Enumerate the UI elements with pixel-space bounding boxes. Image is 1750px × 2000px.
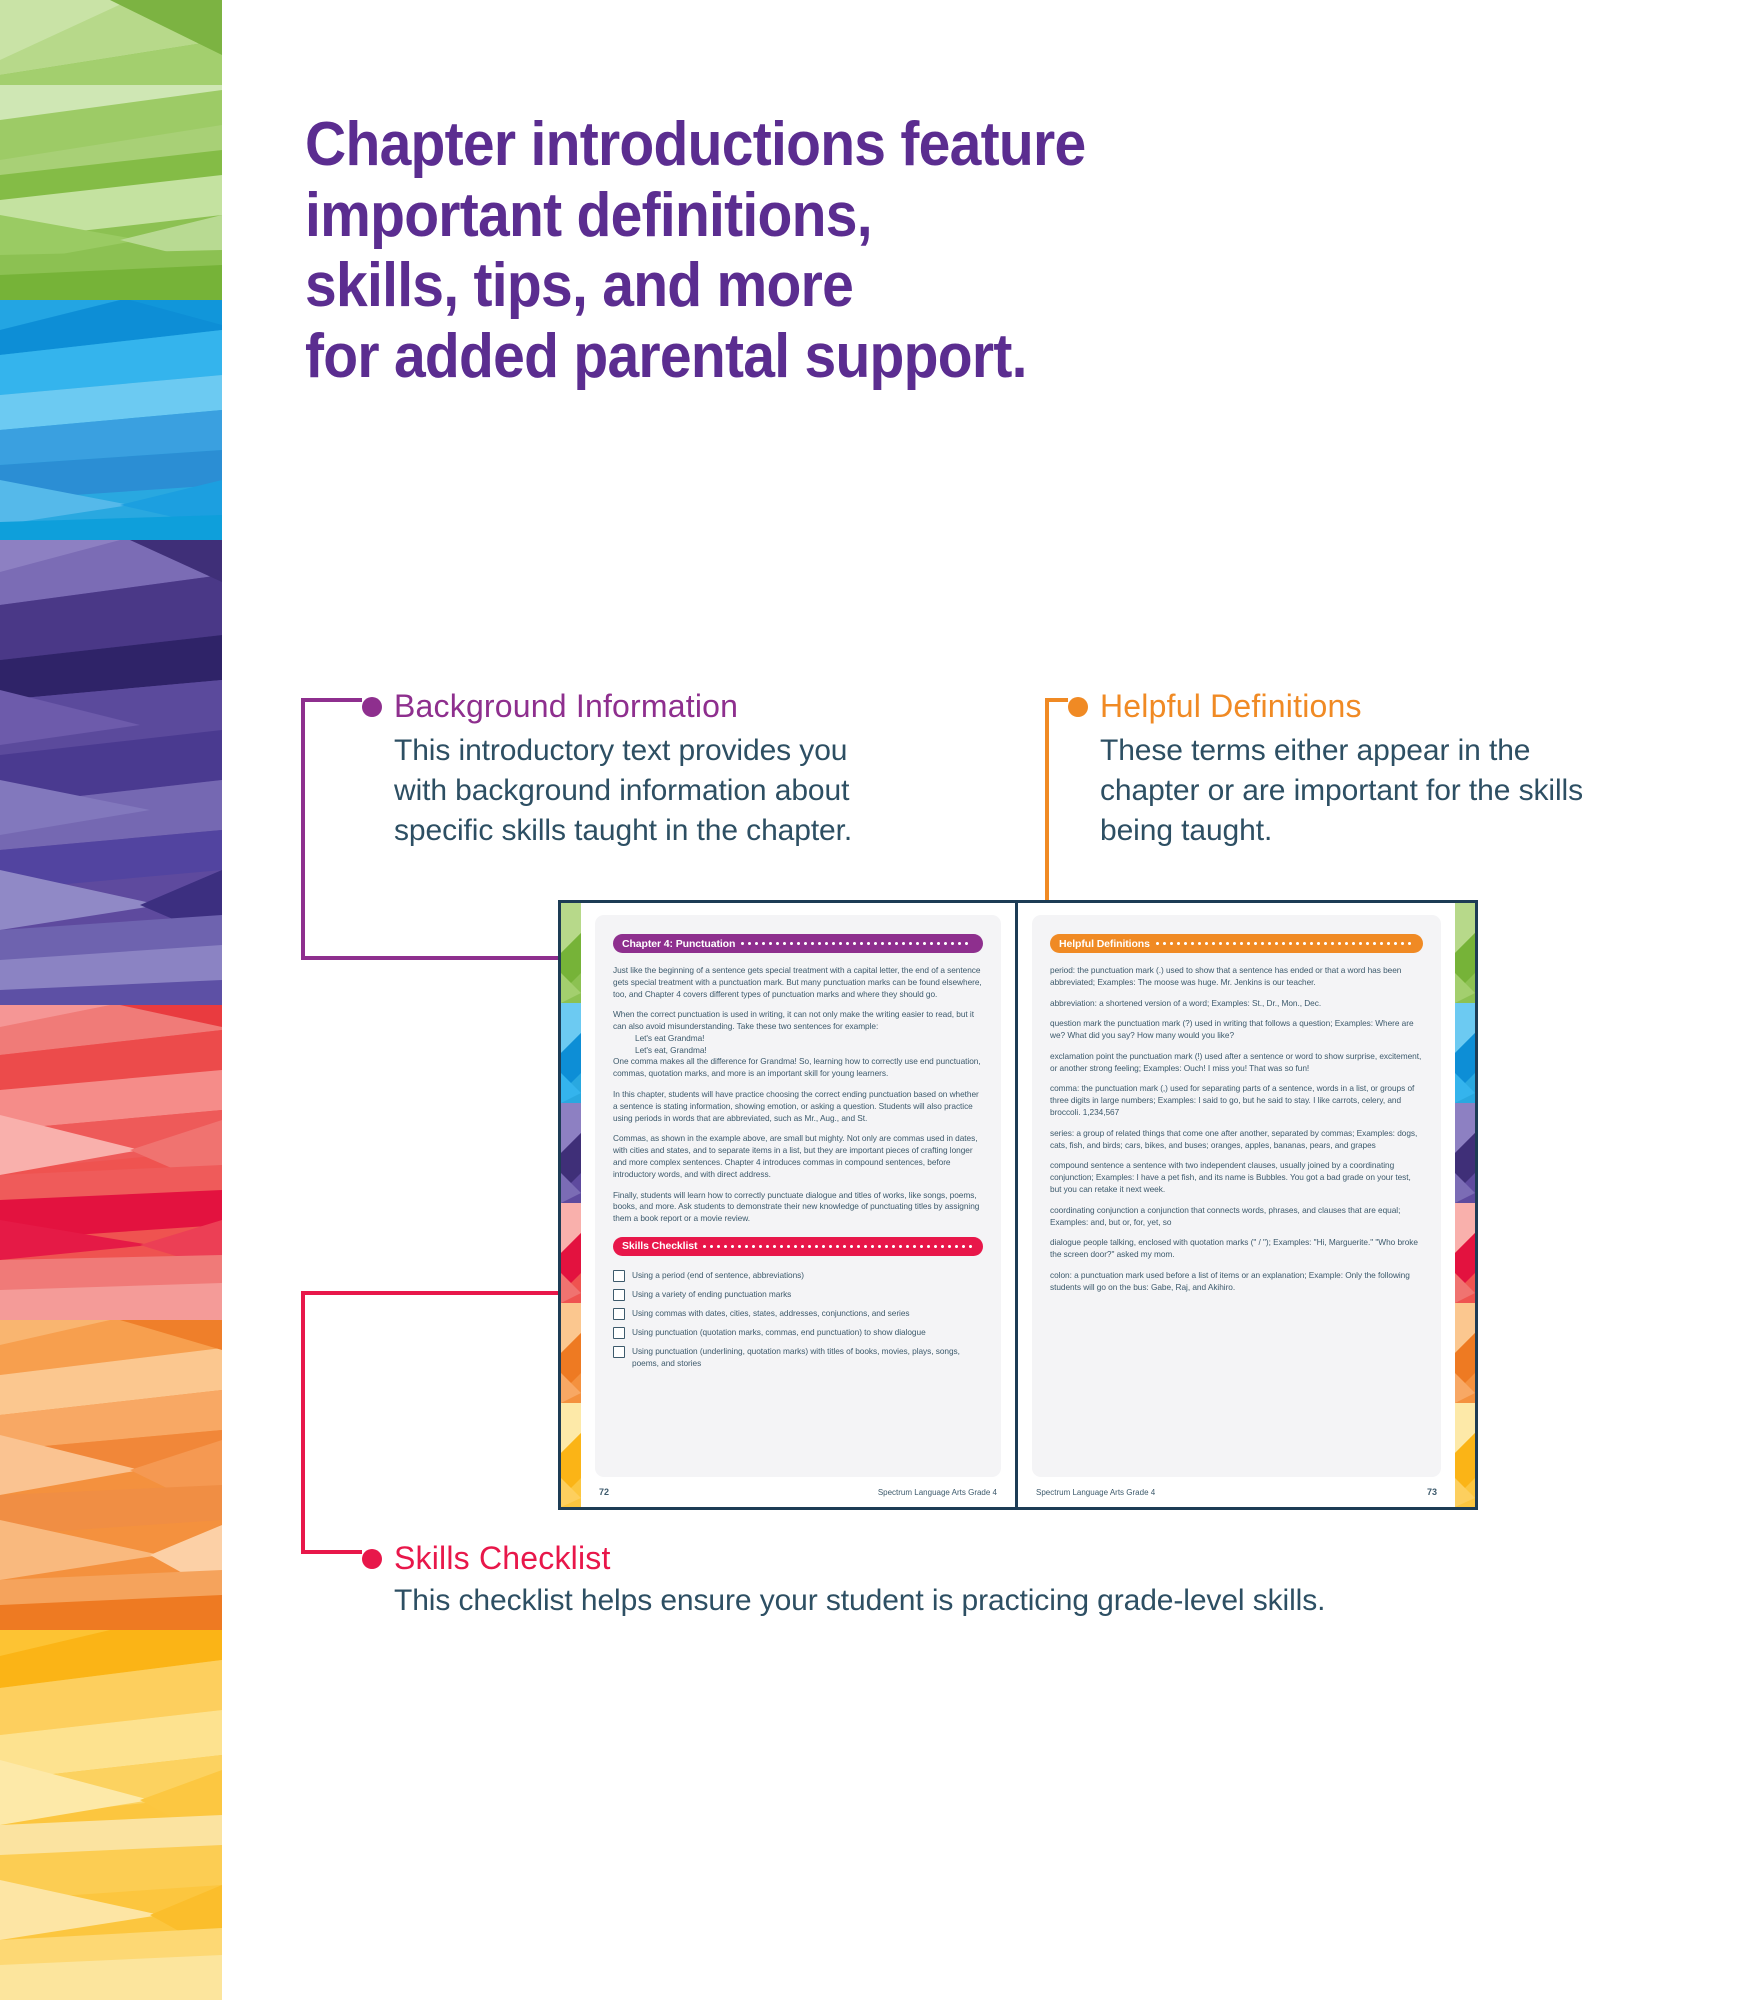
headline-line-3: skills, tips, and more (305, 251, 1335, 322)
footer-title: Spectrum Language Arts Grade 4 (878, 1488, 997, 1497)
color-band-green (0, 0, 222, 300)
checklist-item[interactable]: Using punctuation (underlining, quotatio… (613, 1346, 983, 1370)
intro-paragraph: Finally, students will learn how to corr… (613, 1190, 983, 1225)
checklist-item-label: Using commas with dates, cities, states,… (632, 1308, 910, 1320)
callout-background-information: Background Information This introductory… (362, 688, 962, 851)
section-bar-chapter: Chapter 4: Punctuation (613, 934, 983, 953)
checklist-item-label: Using punctuation (quotation marks, comm… (632, 1327, 926, 1339)
checkbox-icon[interactable] (613, 1289, 625, 1301)
intro-paragraph: In this chapter, students will have prac… (613, 1089, 983, 1124)
section-bar-label: Skills Checklist (622, 1240, 697, 1252)
checklist-item-label: Using a period (end of sentence, abbrevi… (632, 1270, 804, 1282)
definition-entry: comma: the punctuation mark (,) used for… (1050, 1083, 1423, 1118)
chapter-intro-card: Chapter 4: Punctuation Just like the beg… (595, 915, 1001, 1477)
headline-line-2: important definitions, (305, 181, 1335, 252)
book-page-right-content: Helpful Definitions period: the punctuat… (1018, 903, 1455, 1507)
bullet-dot-icon (1068, 697, 1088, 717)
intro-paragraph: Just like the beginning of a sentence ge… (613, 965, 983, 1000)
checklist-item[interactable]: Using a variety of ending punctuation ma… (613, 1289, 983, 1301)
color-band-orange (0, 1320, 222, 1630)
checkbox-icon[interactable] (613, 1308, 625, 1320)
callout-body-line: This introductory text provides you (394, 731, 962, 771)
definition-entry: colon: a punctuation mark used before a … (1050, 1270, 1423, 1294)
checklist-item[interactable]: Using commas with dates, cities, states,… (613, 1308, 983, 1320)
section-bar-label: Helpful Definitions (1059, 938, 1150, 950)
definition-entry: coordinating conjunction a conjunction t… (1050, 1205, 1423, 1229)
intro-paragraph: Commas, as shown in the example above, a… (613, 1133, 983, 1180)
definition-entry: abbreviation: a shortened version of a w… (1050, 998, 1423, 1010)
section-bar-label: Chapter 4: Punctuation (622, 938, 735, 950)
callout-body-line: This checklist helps ensure your student… (394, 1581, 1662, 1621)
decorative-color-strip (0, 0, 222, 2000)
callout-header: Helpful Definitions (1068, 688, 1728, 725)
page-headline: Chapter introductions feature important … (305, 110, 1335, 393)
callout-title: Skills Checklist (394, 1540, 611, 1577)
callout-body-line: specific skills taught in the chapter. (394, 811, 962, 851)
checkbox-icon[interactable] (613, 1327, 625, 1339)
page-footer-right: Spectrum Language Arts Grade 4 73 (1032, 1477, 1441, 1507)
definition-entry: series: a group of related things that c… (1050, 1128, 1423, 1152)
definition-entry: exclamation point the punctuation mark (… (1050, 1051, 1423, 1075)
headline-line-4: for added parental support. (305, 322, 1335, 393)
dotted-rule (739, 934, 974, 953)
callout-title: Helpful Definitions (1100, 688, 1362, 725)
callout-body: This introductory text provides you with… (394, 731, 962, 851)
intro-paragraph: One comma makes all the difference for G… (613, 1056, 983, 1080)
callout-body-line: These terms either appear in the (1100, 731, 1728, 771)
color-band-yellow (0, 1630, 222, 2000)
page-number: 73 (1427, 1487, 1437, 1497)
callout-body-line: being taught. (1100, 811, 1728, 851)
section-bar-definitions: Helpful Definitions (1050, 934, 1423, 953)
checklist-item[interactable]: Using a period (end of sentence, abbrevi… (613, 1270, 983, 1282)
example-sentence: Let's eat, Grandma! (613, 1045, 983, 1057)
callout-title: Background Information (394, 688, 738, 725)
checklist-item-label: Using punctuation (underlining, quotatio… (632, 1346, 983, 1370)
checklist-item[interactable]: Using punctuation (quotation marks, comm… (613, 1327, 983, 1339)
checkbox-icon[interactable] (613, 1270, 625, 1282)
definition-entry: question mark the punctuation mark (?) u… (1050, 1018, 1423, 1042)
definition-entry: compound sentence a sentence with two in… (1050, 1160, 1423, 1195)
footer-title: Spectrum Language Arts Grade 4 (1036, 1488, 1155, 1497)
callout-body: This checklist helps ensure your student… (394, 1581, 1662, 1621)
callout-body: These terms either appear in the chapter… (1100, 731, 1728, 851)
intro-paragraph: When the correct punctuation is used in … (613, 1009, 983, 1033)
page-edge-rainbow-right (1455, 903, 1475, 1507)
color-band-red (0, 1005, 222, 1320)
callout-header: Skills Checklist (362, 1540, 1662, 1577)
definition-entry: dialogue people talking, enclosed with q… (1050, 1237, 1423, 1261)
headline-line-1: Chapter introductions feature (305, 110, 1335, 181)
book-page-left-content: Chapter 4: Punctuation Just like the beg… (581, 903, 1015, 1507)
book-spread-image: Chapter 4: Punctuation Just like the beg… (558, 900, 1478, 1510)
callout-helpful-definitions: Helpful Definitions These terms either a… (1068, 688, 1728, 851)
section-bar-skills-checklist: Skills Checklist (613, 1237, 983, 1256)
poster-page: Chapter introductions feature important … (0, 0, 1750, 2000)
callout-body-line: chapter or are important for the skills (1100, 771, 1728, 811)
callout-header: Background Information (362, 688, 962, 725)
page-number: 72 (599, 1487, 609, 1497)
helpful-definitions-card: Helpful Definitions period: the punctuat… (1032, 915, 1441, 1477)
callout-body-line: with background information about (394, 771, 962, 811)
color-band-purple (0, 540, 222, 1005)
callout-skills-checklist: Skills Checklist This checklist helps en… (362, 1540, 1662, 1621)
example-sentence: Let's eat Grandma! (613, 1033, 983, 1045)
color-band-blue (0, 300, 222, 540)
book-page-left: Chapter 4: Punctuation Just like the beg… (561, 903, 1018, 1507)
bullet-dot-icon (362, 697, 382, 717)
dotted-rule (1154, 934, 1414, 953)
book-page-right: Helpful Definitions period: the punctuat… (1018, 903, 1475, 1507)
bullet-dot-icon (362, 1549, 382, 1569)
page-footer-left: 72 Spectrum Language Arts Grade 4 (595, 1477, 1001, 1507)
definition-entry: period: the punctuation mark (.) used to… (1050, 965, 1423, 989)
checklist-item-label: Using a variety of ending punctuation ma… (632, 1289, 791, 1301)
page-edge-rainbow-left (561, 903, 581, 1507)
dotted-rule (701, 1237, 974, 1256)
checkbox-icon[interactable] (613, 1346, 625, 1358)
